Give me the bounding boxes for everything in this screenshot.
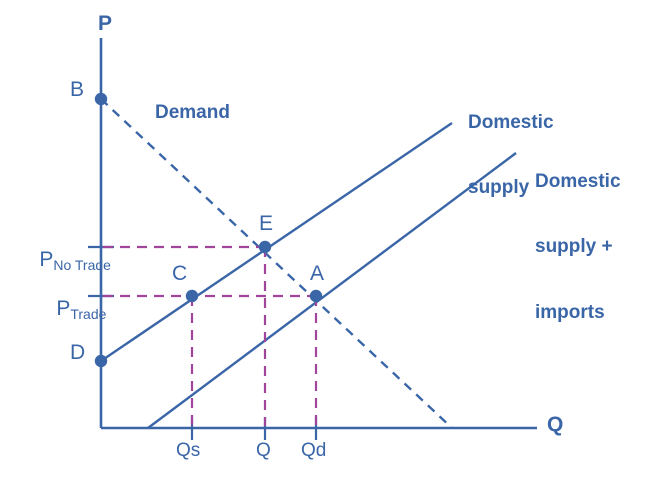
price-label-trade-main: P — [56, 297, 70, 320]
y-axis-label: P — [98, 12, 112, 36]
price-label-trade-subscript: Trade — [70, 306, 106, 322]
curve-label-imports-line2: supply + — [535, 236, 621, 258]
point-marker-a — [310, 290, 322, 302]
price-label-trade: PTrade — [33, 273, 106, 345]
point-label-a: A — [310, 262, 324, 286]
price-label-no-trade-subscript: No Trade — [53, 257, 111, 273]
x-tick-label-q: Q — [256, 440, 271, 462]
point-label-b: B — [70, 78, 84, 102]
point-marker-d — [95, 355, 107, 367]
domestic-supply-curve — [101, 123, 452, 361]
curve-label-demand: Demand — [155, 102, 230, 124]
demand-curve — [101, 99, 452, 428]
curve-label-imports-line3: imports — [535, 302, 621, 324]
point-label-c: C — [172, 262, 187, 286]
x-axis-label: Q — [547, 413, 563, 437]
x-tick-label-qd: Qd — [301, 440, 326, 462]
point-marker-e — [259, 241, 271, 253]
point-marker-b — [95, 93, 107, 105]
curve-label-domestic-supply-imports: Domestic supply + imports — [535, 127, 621, 367]
x-tick-label-qs: Qs — [176, 440, 200, 462]
point-label-e: E — [259, 212, 273, 236]
point-marker-c — [186, 290, 198, 302]
curve-label-imports-line1: Domestic — [535, 171, 621, 193]
supply-demand-diagram: P Q B D E C A Demand Domestic supply Dom… — [0, 0, 650, 482]
price-label-no-trade-main: P — [39, 248, 53, 271]
